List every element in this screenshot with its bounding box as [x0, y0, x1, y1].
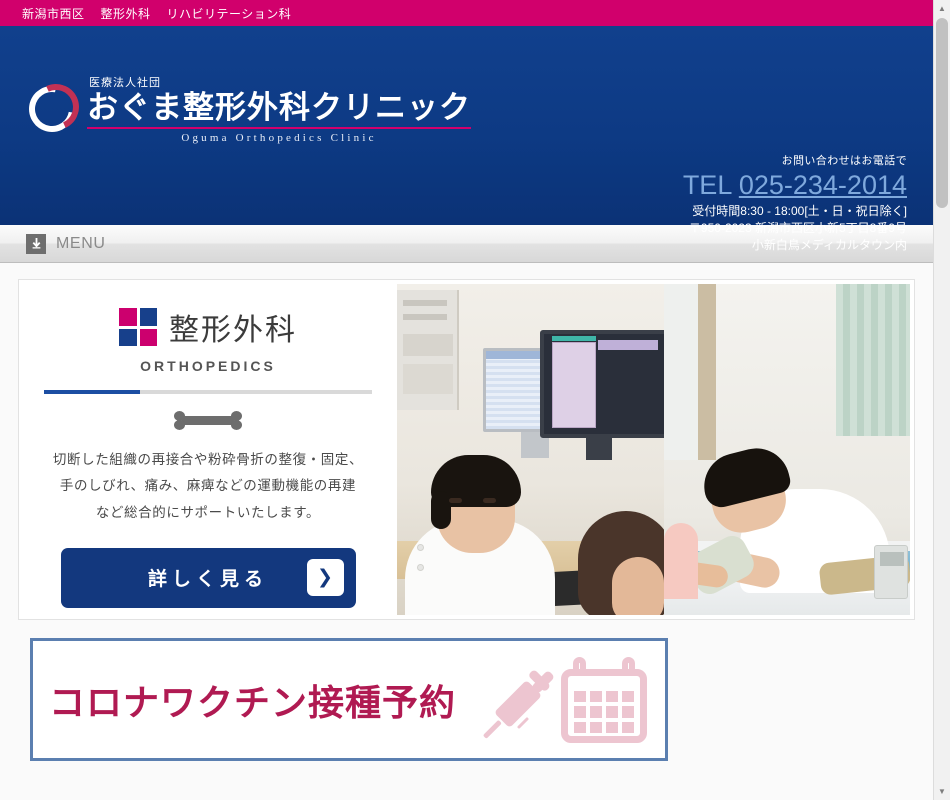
promo-description: 切断した組織の再接合や粉砕骨折の整復・固定、 手のしびれ、痛み、麻痺などの運動機…: [53, 447, 363, 526]
chevron-right-icon[interactable]: ❯: [307, 559, 344, 596]
clinic-name-en: Oguma Orthopedics Clinic: [87, 132, 471, 144]
promo-title-en: ORTHOPEDICS: [140, 358, 276, 374]
read-more-button[interactable]: 詳しく見る ❯: [61, 548, 356, 608]
promo-description-line-3: など総合的にサポートいたします。: [53, 500, 363, 526]
menu-label: MENU: [56, 235, 106, 253]
main-content: 整形外科 ORTHOPEDICS 切断した組織の再接合や粉砕骨折の整復・固定、 …: [0, 263, 933, 761]
vaccine-banner-label: コロナワクチン接種予約: [49, 674, 456, 726]
tel-label: TEL: [683, 170, 732, 200]
promo-text-column: 整形外科 ORTHOPEDICS 切断した組織の再接合や粉砕骨折の整復・固定、 …: [19, 280, 397, 619]
page-root: 新潟市西区 整形外科 リハビリテーション科 医療法人社団 おぐま整形外科クリニッ…: [0, 0, 950, 800]
clinic-name: おぐま整形外科クリニック: [87, 91, 471, 126]
site-logo[interactable]: 医療法人社団 おぐま整形外科クリニック Oguma Orthopedics Cl…: [27, 74, 471, 144]
contact-address-line1: 〒950-2023 新潟市西区小新5丁目8番9号: [683, 220, 907, 237]
top-info-bar: 新潟市西区 整形外科 リハビリテーション科: [0, 0, 933, 26]
clinic-name-underline: [87, 127, 471, 129]
topbar-item-orthopedics: 整形外科: [101, 5, 151, 22]
read-more-label: 詳しく見る: [148, 564, 268, 591]
header-contact-block: お問い合わせはお電話で TEL 025-234-2014 受付時間8:30 - …: [683, 152, 907, 254]
topbar-item-area: 新潟市西区: [22, 5, 85, 22]
promo-title-row: 整形外科: [119, 305, 297, 349]
orthopedics-promo-card[interactable]: 整形外科 ORTHOPEDICS 切断した組織の再接合や粉砕骨折の整復・固定、 …: [18, 279, 915, 620]
swirl-ring-logo-icon: [27, 84, 79, 136]
arrow-down-icon[interactable]: [26, 234, 46, 254]
promo-description-line-1: 切断した組織の再接合や粉砕骨折の整復・固定、: [53, 447, 363, 473]
site-header: 医療法人社団 おぐま整形外科クリニック Oguma Orthopedics Cl…: [0, 26, 933, 225]
section-gap: [18, 620, 915, 638]
tel-number[interactable]: 025-234-2014: [739, 170, 907, 200]
checker-square-icon: [119, 308, 157, 346]
scrollbar-thumb[interactable]: [936, 18, 948, 208]
contact-hours: 受付時間8:30 - 18:00[土・日・祝日除く]: [683, 203, 907, 220]
promo-divider: [44, 390, 372, 394]
photo-doctor-consultation: [397, 284, 664, 615]
logo-text-block: 医療法人社団 おぐま整形外科クリニック Oguma Orthopedics Cl…: [87, 74, 471, 144]
browser-viewport: 新潟市西区 整形外科 リハビリテーション科 医療法人社団 おぐま整形外科クリニッ…: [0, 0, 933, 800]
contact-tel[interactable]: TEL 025-234-2014: [683, 169, 907, 203]
vertical-scrollbar[interactable]: ▲ ▼: [933, 0, 950, 800]
corporation-label: 医療法人社団: [89, 74, 471, 90]
topbar-item-rehabilitation: リハビリテーション科: [167, 5, 292, 22]
calendar-icon: [561, 657, 647, 743]
contact-lead: お問い合わせはお電話で: [683, 152, 907, 168]
scroll-up-arrow-icon[interactable]: ▲: [934, 0, 950, 17]
contact-address-line2: 小新白鳥メディカルタウン内: [683, 237, 907, 254]
vaccine-banner-icons: [469, 649, 649, 753]
scroll-down-arrow-icon[interactable]: ▼: [934, 783, 950, 800]
syringe-icon: [473, 655, 569, 751]
photo-therapy-session: [664, 284, 910, 615]
bone-icon: [173, 410, 243, 430]
promo-photo-collage: [397, 284, 910, 615]
promo-title-jp: 整形外科: [169, 305, 297, 349]
logo-ring-crimson: [27, 78, 86, 137]
vaccine-reservation-banner[interactable]: コロナワクチン接種予約: [30, 638, 668, 761]
promo-description-line-2: 手のしびれ、痛み、麻痺などの運動機能の再建: [53, 473, 363, 499]
